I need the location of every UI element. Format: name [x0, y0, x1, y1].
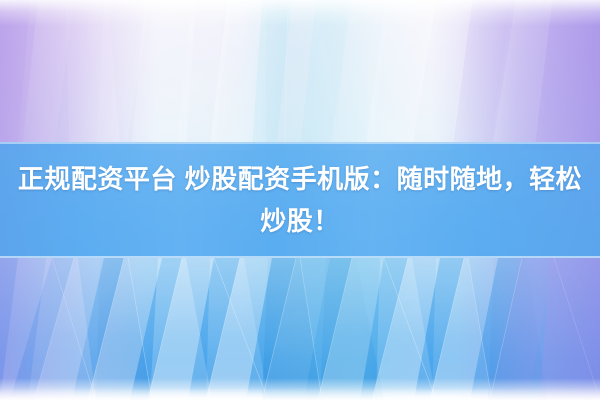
- headline-line-1: 正规配资平台 炒股配资手机版：随时随地，轻松: [18, 158, 582, 200]
- headline-line-2: 炒股！: [260, 200, 340, 242]
- top-edge-fade: [0, 0, 600, 26]
- bottom-watermark: [286, 382, 316, 396]
- headline-text-block: 正规配资平台 炒股配资手机版：随时随地，轻松 炒股！: [0, 142, 600, 258]
- banner-image: 正规配资平台 炒股配资手机版：随时随地，轻松 炒股！: [0, 0, 600, 400]
